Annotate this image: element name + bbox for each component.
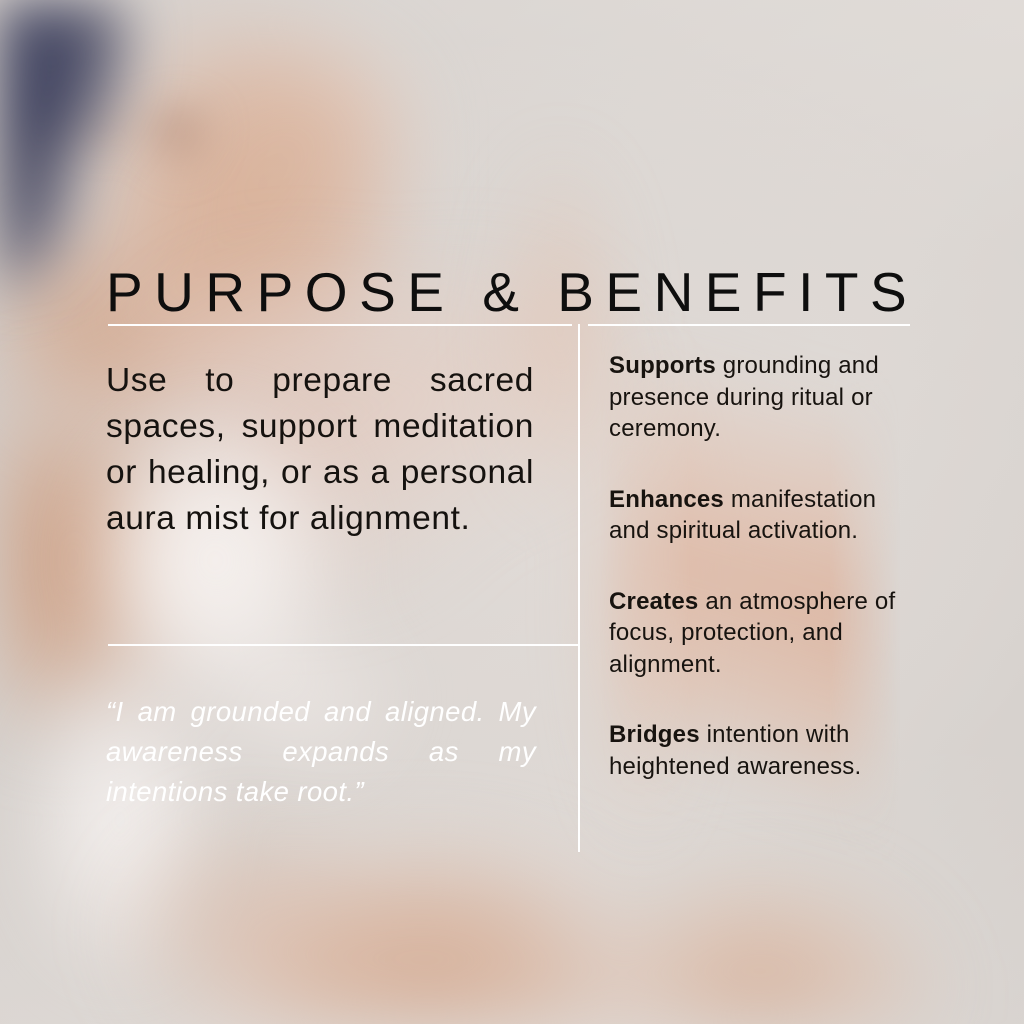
divider-top-right bbox=[588, 324, 910, 326]
affirmation-quote: “I am grounded and aligned. My awareness… bbox=[106, 692, 536, 812]
left-column: Use to prepare sacred spaces, support me… bbox=[106, 358, 534, 542]
divider-vertical bbox=[578, 324, 580, 852]
content-overlay: PURPOSE & BENEFITS Use to prepare sacred… bbox=[0, 0, 1024, 1024]
benefit-lead-word: Bridges bbox=[609, 721, 700, 748]
divider-left-middle bbox=[108, 644, 578, 646]
benefit-item: Supports grounding and presence during r… bbox=[609, 350, 921, 445]
benefit-lead-word: Enhances bbox=[609, 486, 724, 513]
benefit-item: Bridges intention with heightened awaren… bbox=[609, 719, 921, 782]
divider-top-left bbox=[108, 324, 572, 326]
page-title: PURPOSE & BENEFITS bbox=[106, 265, 926, 320]
benefit-lead-word: Creates bbox=[609, 588, 698, 615]
benefit-lead-word: Supports bbox=[609, 352, 716, 379]
benefit-item: Enhances manifestation and spiritual act… bbox=[609, 484, 921, 547]
usage-instructions-text: Use to prepare sacred spaces, support me… bbox=[106, 358, 534, 542]
benefit-item: Creates an atmosphere of focus, protecti… bbox=[609, 586, 921, 681]
affirmation-block: “I am grounded and aligned. My awareness… bbox=[106, 692, 536, 812]
benefits-list: Supports grounding and presence during r… bbox=[609, 350, 921, 782]
purpose-benefits-graphic: PURPOSE & BENEFITS Use to prepare sacred… bbox=[0, 0, 1024, 1024]
